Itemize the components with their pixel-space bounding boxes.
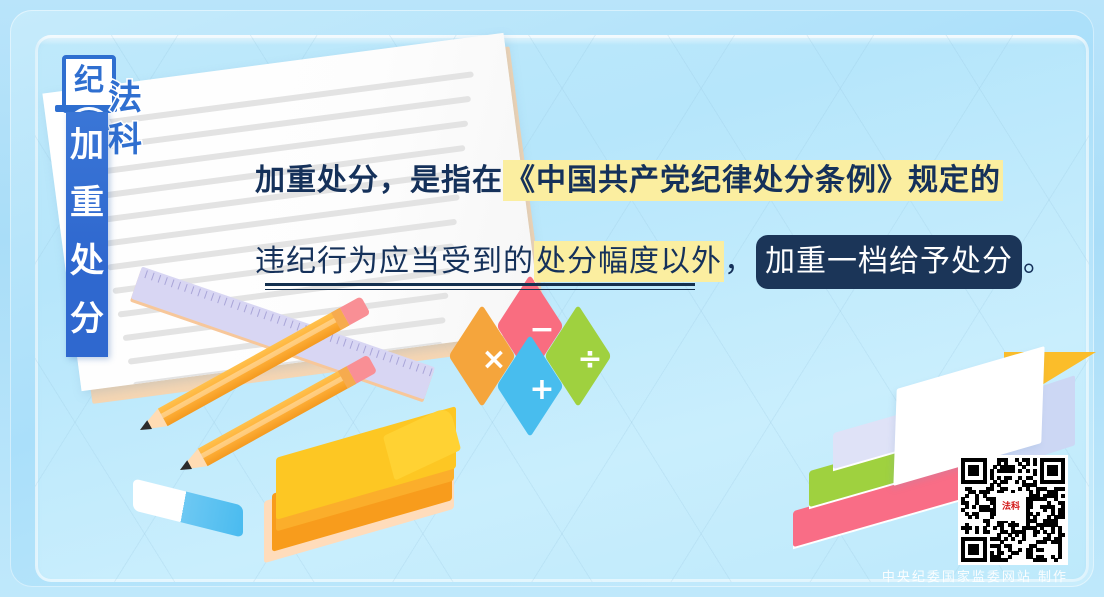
ruler-tick <box>409 361 413 369</box>
ruler-tick <box>211 293 215 301</box>
ruler-tick <box>383 352 387 360</box>
ruler-tick <box>363 346 367 354</box>
ruler-tick <box>171 279 175 287</box>
copy-line2-period: 。 <box>1023 244 1054 279</box>
ruler-tick <box>429 368 433 376</box>
copy-line2-plain: 违纪行为应当受到的 <box>255 244 534 279</box>
copy-line1-highlight: 《中国共产党纪律处分条例》规定的 <box>503 160 1003 201</box>
copy-line2-badge: 加重一档给予处分 <box>756 235 1022 289</box>
ruler-tick <box>224 298 228 306</box>
ruler-tick <box>356 343 360 351</box>
ruler-tick <box>283 318 287 326</box>
ruler-tick <box>184 284 188 292</box>
main-copy: 加重处分，是指在《中国共产党纪律处分条例》规定的 违纪行为应当受到的处分幅度以外… <box>255 155 995 289</box>
ruler-tick <box>376 350 380 358</box>
ruler-tick <box>144 270 148 278</box>
copy-line2-comma: ， <box>724 244 755 279</box>
copy-line-1: 加重处分，是指在《中国共产党纪律处分条例》规定的 <box>255 155 995 207</box>
ruler-tick <box>164 277 168 285</box>
ruler-tick <box>244 304 248 312</box>
ruler-tick <box>422 366 426 374</box>
double-underline <box>265 283 695 291</box>
qr-center-logo: 法科 <box>996 493 1026 521</box>
ruler-tick <box>369 348 373 356</box>
ruler-tick <box>277 316 281 324</box>
ruler-tick <box>290 320 294 328</box>
qr-code[interactable]: 法科 <box>958 455 1068 565</box>
copy-line2-highlight: 处分幅度以外 <box>534 241 724 282</box>
ruler-tick <box>158 275 162 283</box>
ruler-tick <box>257 309 261 317</box>
ruler-tick <box>250 307 254 315</box>
ruler-tick <box>237 302 241 310</box>
ruler-tick <box>270 314 274 322</box>
logo-ke-character: 科 <box>108 112 142 161</box>
plus-block-icon: + <box>500 356 584 440</box>
ruler-tick <box>197 289 201 297</box>
plus-glyph: + <box>500 356 584 424</box>
ruler-tick <box>151 273 155 281</box>
math-blocks-illustration: × − ÷ + <box>452 300 652 420</box>
copy-line-2: 违纪行为应当受到的处分幅度以外，加重一档给予处分。 <box>255 235 995 289</box>
qr-logo-text: 法科 <box>1002 503 1020 512</box>
copy-line1-plain: 加重处分，是指在 <box>255 163 503 198</box>
ruler-tick <box>343 339 347 347</box>
ruler-tick <box>230 300 234 308</box>
vertical-title-bar: 加重处分 <box>66 112 108 357</box>
ruler-tick <box>403 359 407 367</box>
poster-canvas: × − ÷ + <box>0 0 1104 597</box>
ruler-tick <box>204 291 208 299</box>
footer-credit: 中央纪委国家监委网站 制作 <box>882 566 1068 585</box>
ruler-tick <box>389 355 393 363</box>
vertical-title-text: 加重处分 <box>66 112 108 348</box>
ruler-tick <box>350 341 354 349</box>
ruler-tick <box>217 295 221 303</box>
ruler-tick <box>396 357 400 365</box>
ruler-tick <box>191 286 195 294</box>
ruler-tick <box>416 364 420 372</box>
ruler-tick <box>264 311 268 319</box>
ruler-tick <box>177 282 181 290</box>
eraser-illustration <box>133 492 243 538</box>
sticky-notes-illustration <box>268 428 463 548</box>
ruler-tick <box>336 336 340 344</box>
